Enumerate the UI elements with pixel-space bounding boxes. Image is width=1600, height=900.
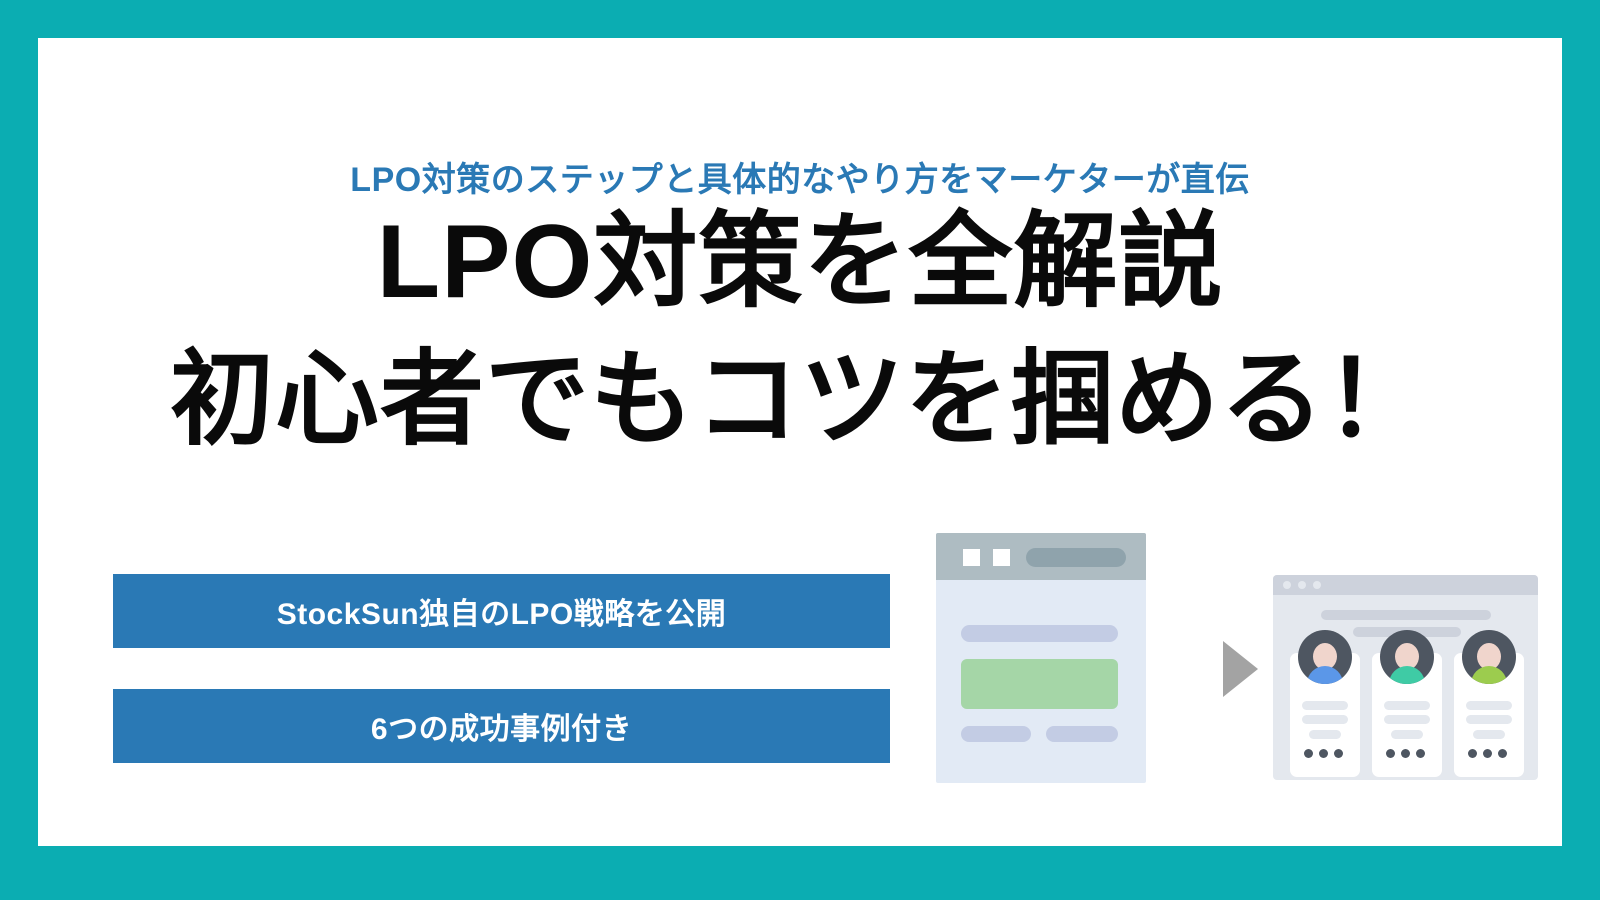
person-card bbox=[1372, 653, 1442, 777]
avatar-body-icon bbox=[1389, 666, 1425, 684]
window-dot-icon-2 bbox=[1298, 581, 1306, 589]
content-bar-heading bbox=[961, 625, 1118, 642]
browser-titlebar-after bbox=[1273, 575, 1538, 595]
window-square-icon-2 bbox=[993, 549, 1010, 566]
person-card-bar bbox=[1384, 715, 1430, 724]
arrow-right-icon bbox=[1223, 641, 1258, 697]
person-card bbox=[1454, 653, 1524, 777]
dot-icon bbox=[1334, 749, 1343, 758]
window-dot-icon-1 bbox=[1283, 581, 1291, 589]
page-title-line-1: LPO対策を全解説 bbox=[38, 210, 1562, 314]
page-title-line-2: 初心者でもコツを掴める！ bbox=[38, 348, 1562, 452]
page-subtitle: LPO対策のステップと具体的なやり方をマーケターが直伝 bbox=[38, 160, 1562, 201]
dot-icon bbox=[1483, 749, 1492, 758]
person-card-bar bbox=[1302, 715, 1348, 724]
content-bar-right bbox=[1046, 726, 1118, 742]
person-card-bar bbox=[1391, 730, 1423, 739]
dot-icon bbox=[1304, 749, 1313, 758]
dot-icon bbox=[1319, 749, 1328, 758]
person-card-dots bbox=[1304, 749, 1343, 758]
address-bar-placeholder bbox=[1026, 548, 1126, 567]
avatar-body-icon bbox=[1307, 666, 1343, 684]
after-heading-bar-1 bbox=[1321, 610, 1491, 620]
avatar bbox=[1462, 630, 1516, 684]
browser-window-after bbox=[1273, 575, 1538, 780]
content-bar-left bbox=[961, 726, 1031, 742]
window-square-icon-1 bbox=[963, 549, 980, 566]
dot-icon bbox=[1401, 749, 1410, 758]
dot-icon bbox=[1498, 749, 1507, 758]
person-card bbox=[1290, 653, 1360, 777]
window-dot-icon-3 bbox=[1313, 581, 1321, 589]
thumbnail-canvas: LPO対策のステップと具体的なやり方をマーケターが直伝 LPO対策を全解説 初心… bbox=[0, 0, 1600, 900]
hero-block bbox=[961, 659, 1118, 709]
content-card: LPO対策のステップと具体的なやり方をマーケターが直伝 LPO対策を全解説 初心… bbox=[38, 38, 1562, 846]
person-card-bar bbox=[1473, 730, 1505, 739]
avatar-body-icon bbox=[1471, 666, 1507, 684]
browser-titlebar-before bbox=[936, 533, 1146, 580]
dot-icon bbox=[1468, 749, 1477, 758]
person-card-bar bbox=[1309, 730, 1341, 739]
person-card-dots bbox=[1386, 749, 1425, 758]
lpo-illustration bbox=[918, 533, 1518, 803]
highlight-badge-2: 6つの成功事例付き bbox=[113, 689, 890, 763]
avatar bbox=[1298, 630, 1352, 684]
browser-window-before bbox=[936, 533, 1146, 783]
highlight-badge-1: StockSun独自のLPO戦略を公開 bbox=[113, 574, 890, 648]
person-card-bar bbox=[1302, 701, 1348, 710]
person-card-bar bbox=[1466, 701, 1512, 710]
person-card-bar bbox=[1466, 715, 1512, 724]
person-card-dots bbox=[1468, 749, 1507, 758]
highlight-badge-1-label: StockSun独自のLPO戦略を公開 bbox=[277, 589, 727, 633]
person-card-bar bbox=[1384, 701, 1430, 710]
dot-icon bbox=[1386, 749, 1395, 758]
avatar bbox=[1380, 630, 1434, 684]
dot-icon bbox=[1416, 749, 1425, 758]
highlight-badge-2-label: 6つの成功事例付き bbox=[371, 704, 632, 748]
